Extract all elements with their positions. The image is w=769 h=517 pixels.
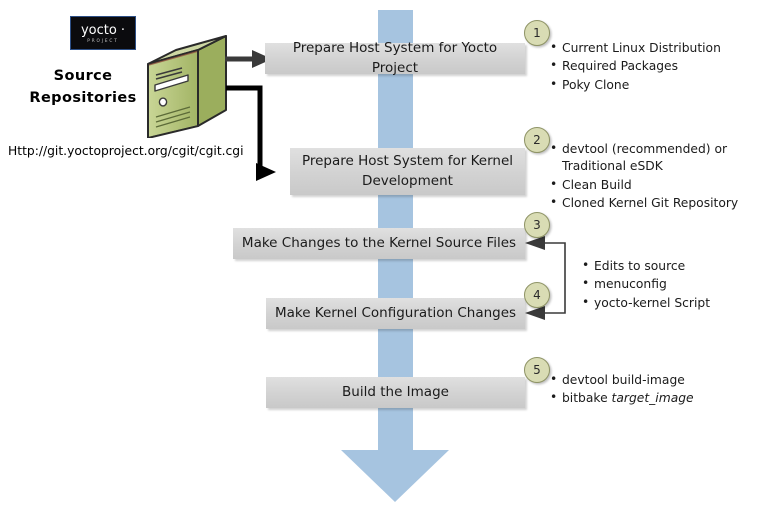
list-item: menuconfig <box>582 276 710 293</box>
list-item: Required Packages <box>550 58 721 75</box>
list-item: yocto-kernel Script <box>582 295 710 312</box>
source-repository-url: Http://git.yoctoproject.org/cgit/cgit.cg… <box>8 144 244 158</box>
process-box-step-4[interactable]: Make Kernel Configuration Changes <box>266 298 525 329</box>
process-box-step-1[interactable]: Prepare Host System for Yocto Project <box>265 43 525 74</box>
list-item: Current Linux Distribution <box>550 40 721 57</box>
diagram-canvas: yocto · PROJECT Source Repositories Http… <box>0 0 769 517</box>
step-number-2: 2 <box>524 127 550 153</box>
step-number-1: 1 <box>524 20 550 46</box>
step-1-bullets: Current Linux Distribution Required Pack… <box>550 40 721 95</box>
main-flow-arrow-head <box>341 450 449 502</box>
logo-wordmark: yocto · <box>81 24 125 37</box>
step-2-bullets: devtool (recommended) or Traditional eSD… <box>550 141 738 214</box>
logo-subtitle: PROJECT <box>87 39 118 43</box>
step-number-4: 4 <box>524 282 550 308</box>
list-item: Cloned Kernel Git Repository <box>550 195 738 212</box>
step-number-5: 5 <box>524 357 550 383</box>
bitbake-command: bitbake <box>562 391 612 405</box>
list-item: Clean Build <box>550 177 738 194</box>
process-box-step-2-line2: Development <box>362 172 453 192</box>
source-repositories-label: Source Repositories <box>24 66 142 110</box>
yocto-project-logo: yocto · PROJECT <box>70 16 136 50</box>
process-box-step-5[interactable]: Build the Image <box>266 377 525 408</box>
process-box-step-3[interactable]: Make Changes to the Kernel Source Files <box>233 228 525 259</box>
bitbake-target-arg: target_image <box>612 391 694 405</box>
steps-3-4-bullets: Edits to source menuconfig yocto-kernel … <box>582 258 710 313</box>
process-box-step-2[interactable]: Prepare Host System for Kernel Developme… <box>290 148 525 195</box>
process-box-step-2-line1: Prepare Host System for Kernel <box>302 152 513 172</box>
source-label-line2: Repositories <box>24 88 142 110</box>
step-number-3: 3 <box>524 212 550 238</box>
list-item: devtool (recommended) or Traditional eSD… <box>550 141 732 176</box>
server-tower-icon <box>136 28 232 138</box>
source-label-line1: Source <box>24 66 142 88</box>
list-item: Edits to source <box>582 258 710 275</box>
list-item: devtool build-image <box>550 372 694 389</box>
step-5-bullets: devtool build-image bitbake target_image <box>550 372 694 409</box>
list-item: bitbake target_image <box>550 390 694 407</box>
list-item: Poky Clone <box>550 77 721 94</box>
